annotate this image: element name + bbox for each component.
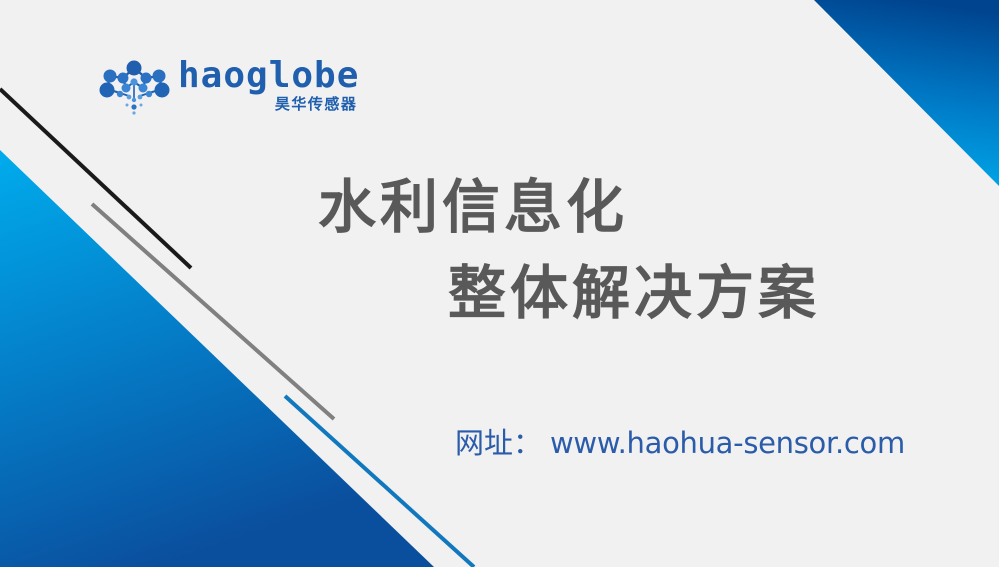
website-url-label: 网址： xyxy=(455,420,542,462)
logo-wordmark: haoglobe xyxy=(178,58,359,94)
title-line-2: 整体解决方案 xyxy=(0,250,999,336)
website-url: 网址： www.haohua-sensor.com xyxy=(455,420,905,462)
haoglobe-network-logo-icon xyxy=(96,56,172,118)
title-line-1: 水利信息化 xyxy=(0,164,999,250)
company-logo: haoglobe 昊华传感器 xyxy=(96,56,359,118)
page-title: 水利信息化 整体解决方案 xyxy=(0,164,999,336)
logo-text-group: haoglobe 昊华传感器 xyxy=(178,56,359,113)
logo-subtitle: 昊华传感器 xyxy=(275,95,358,113)
website-url-value[interactable]: www.haohua-sensor.com xyxy=(550,426,905,460)
presentation-slide: haoglobe 昊华传感器 水利信息化 整体解决方案 网址： www.haoh… xyxy=(0,0,999,567)
